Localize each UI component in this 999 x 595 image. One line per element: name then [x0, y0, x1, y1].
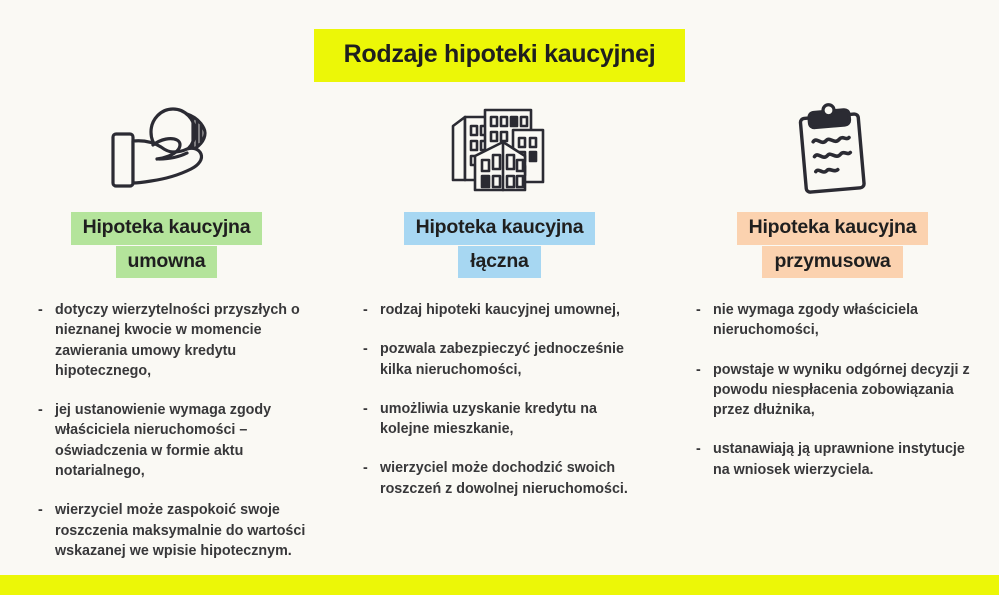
list-item: - dotyczy wierzytelności przyszłych o ni…: [38, 300, 307, 381]
list-item-text: ustanawiają ją uprawnione instytucje na …: [713, 439, 975, 480]
list-item-text: wierzyciel może zaspokoić swoje roszczen…: [55, 500, 307, 561]
column-laczna: Hipoteka kaucyjna łączna - rodzaj hipote…: [333, 100, 666, 499]
list-item: - nie wymaga zgody właściciela nieruchom…: [696, 300, 975, 341]
list-item-text: pozwala zabezpieczyć jednocześnie kilka …: [380, 339, 640, 380]
heading-line-1: Hipoteka kaucyjna: [404, 212, 596, 245]
list-item-text: dotyczy wierzytelności przyszłych o niez…: [55, 300, 307, 381]
column-umowna: Hipoteka kaucyjna umowna - dotyczy wierz…: [0, 100, 333, 561]
columns-container: Hipoteka kaucyjna umowna - dotyczy wierz…: [0, 100, 999, 561]
bullet-list: - rodzaj hipoteki kaucyjnej umownej, - p…: [355, 300, 644, 499]
list-item: - jej ustanowienie wymaga zgody właścici…: [38, 400, 307, 481]
bullet-list: - nie wymaga zgody właściciela nieruchom…: [688, 300, 977, 480]
list-item-text: umożliwia uzyskanie kredytu na kolejne m…: [380, 399, 640, 440]
clipboard-icon: [790, 100, 876, 200]
buildings-icon: [445, 100, 555, 200]
list-item-text: jej ustanowienie wymaga zgody właściciel…: [55, 400, 307, 481]
heading-line-2: łączna: [458, 246, 540, 279]
column-heading: Hipoteka kaucyjna umowna: [71, 212, 263, 278]
heading-line-2: umowna: [116, 246, 218, 279]
bullet-dash: -: [363, 458, 380, 499]
bullet-dash: -: [38, 500, 55, 561]
bullet-dash: -: [696, 360, 713, 421]
bullet-dash: -: [363, 399, 380, 440]
list-item-text: rodzaj hipoteki kaucyjnej umownej,: [380, 300, 640, 320]
bullet-dash: -: [363, 339, 380, 380]
list-item: - ustanawiają ją uprawnione instytucje n…: [696, 439, 975, 480]
list-item-text: wierzyciel może dochodzić swoich roszcze…: [380, 458, 640, 499]
infographic-page: Rodzaje hipoteki kaucyjnej: [0, 0, 999, 595]
bottom-accent-bar: [0, 575, 999, 595]
bullet-dash: -: [38, 400, 55, 481]
list-item-text: powstaje w wyniku odgórnej decyzji z pow…: [713, 360, 975, 421]
list-item: - pozwala zabezpieczyć jednocześnie kilk…: [363, 339, 640, 380]
bullet-dash: -: [38, 300, 55, 381]
bullet-dash: -: [696, 439, 713, 480]
bullet-dash: -: [696, 300, 713, 341]
list-item: - umożliwia uzyskanie kredytu na kolejne…: [363, 399, 640, 440]
hand-holding-coin-icon: [107, 100, 227, 200]
page-title: Rodzaje hipoteki kaucyjnej: [314, 29, 686, 82]
heading-line-1: Hipoteka kaucyjna: [71, 212, 263, 245]
heading-line-1: Hipoteka kaucyjna: [737, 212, 929, 245]
title-container: Rodzaje hipoteki kaucyjnej: [0, 29, 999, 82]
heading-line-2: przymusowa: [762, 246, 902, 279]
list-item: - wierzyciel może dochodzić swoich roszc…: [363, 458, 640, 499]
bullet-dash: -: [363, 300, 380, 320]
column-heading: Hipoteka kaucyjna przymusowa: [737, 212, 929, 278]
column-heading: Hipoteka kaucyjna łączna: [404, 212, 596, 278]
list-item: - wierzyciel może zaspokoić swoje roszcz…: [38, 500, 307, 561]
column-przymusowa: Hipoteka kaucyjna przymusowa - nie wymag…: [666, 100, 999, 480]
bullet-list: - dotyczy wierzytelności przyszłych o ni…: [22, 300, 311, 561]
list-item-text: nie wymaga zgody właściciela nieruchomoś…: [713, 300, 975, 341]
list-item: - rodzaj hipoteki kaucyjnej umownej,: [363, 300, 640, 320]
list-item: - powstaje w wyniku odgórnej decyzji z p…: [696, 360, 975, 421]
